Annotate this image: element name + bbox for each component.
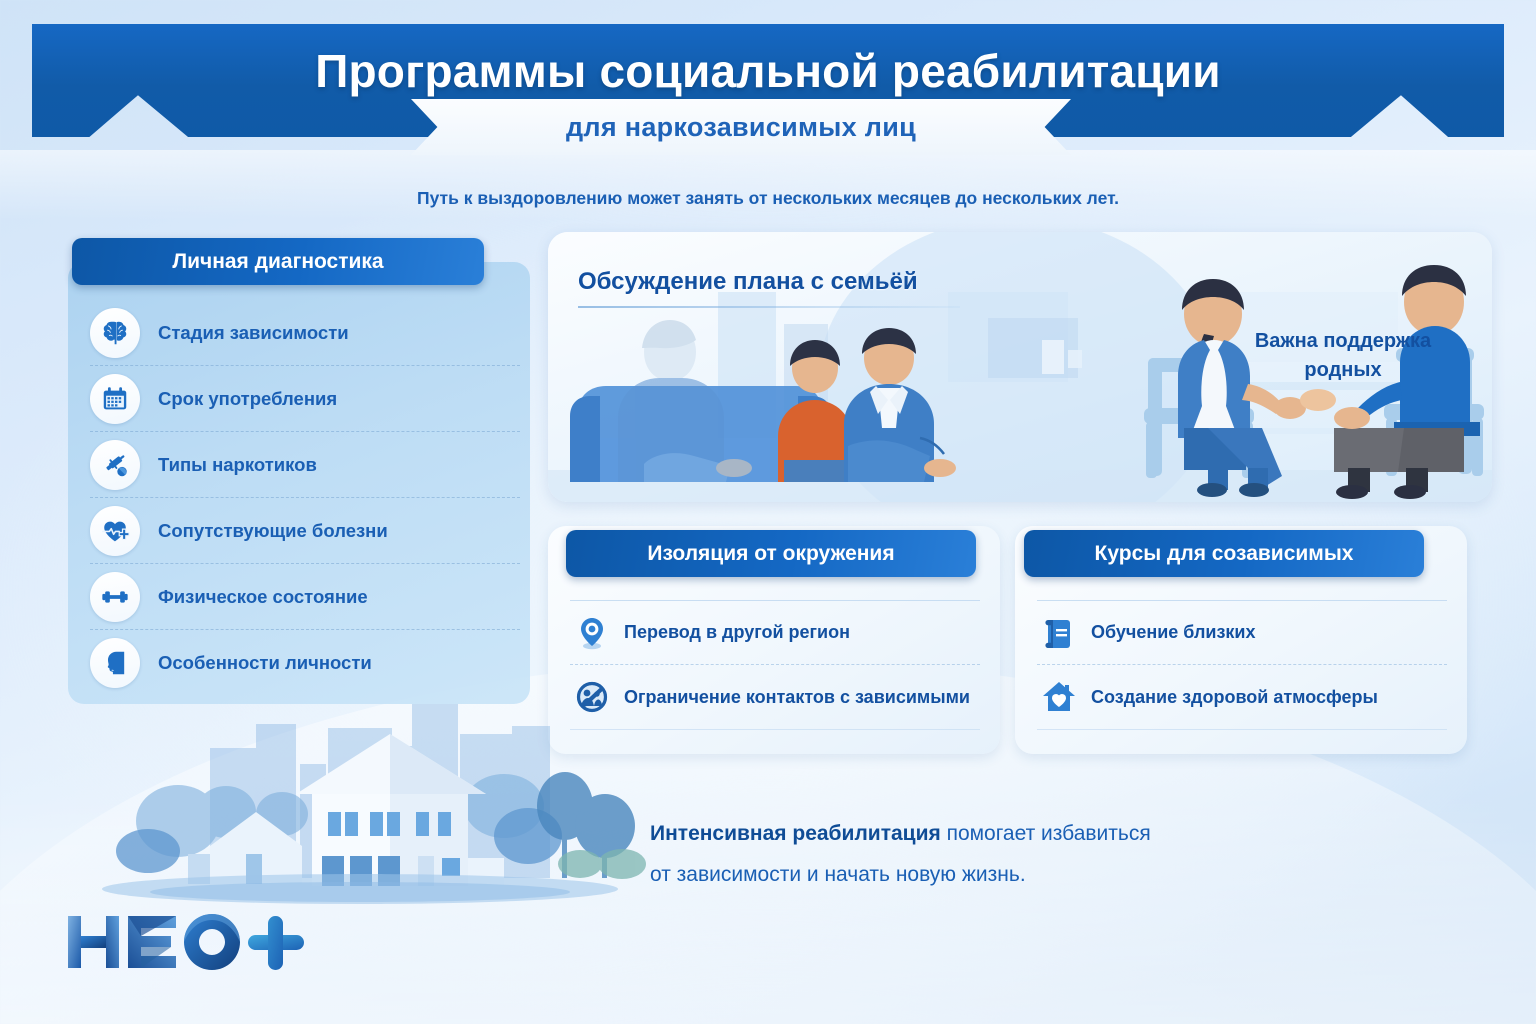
- list-item[interactable]: Физическое состояние: [90, 564, 520, 630]
- list-item-label: Физическое состояние: [158, 586, 368, 608]
- list-item-label: Особенности личности: [158, 652, 372, 674]
- list-item-label: Стадия зависимости: [158, 322, 349, 344]
- home-heart-icon: [1037, 679, 1081, 715]
- list-item[interactable]: Обучение близких: [1037, 600, 1447, 665]
- dumbbell-icon: [90, 572, 140, 622]
- footer-line-2: от зависимости и начать новую жизнь.: [650, 855, 1350, 896]
- list-item[interactable]: Перевод в другой регион: [570, 600, 980, 665]
- list-item-label: Обучение близких: [1091, 622, 1256, 643]
- page-title: Программы социальной реабилитации: [32, 44, 1504, 98]
- isolation-heading-pill: Изоляция от окружения: [566, 530, 976, 577]
- list-item-label: Сопутствующие болезни: [158, 520, 388, 542]
- heart-plus-icon: [90, 506, 140, 556]
- book-icon: [1037, 615, 1081, 651]
- family-discussion-card: Обсуждение плана с семьёй Важна поддержк…: [548, 232, 1492, 502]
- list-item-label: Типы наркотиков: [158, 454, 317, 476]
- list-item-label: Создание здоровой атмосферы: [1091, 687, 1378, 708]
- logo[interactable]: [62, 906, 312, 978]
- footer-highlight: Интенсивная реабилитация: [650, 822, 941, 845]
- list-item[interactable]: Типы наркотиков: [90, 432, 520, 498]
- header-subtitle-ribbon: для наркозависимых лиц: [411, 99, 1071, 155]
- codependent-courses-list: Обучение близких Создание здоровой атмос…: [1037, 600, 1447, 730]
- diagnostics-heading-pill: Личная диагностика: [72, 238, 484, 285]
- card-title: Обсуждение плана с семьёй: [578, 268, 918, 296]
- list-item-label: Срок употребления: [158, 388, 337, 410]
- card-title-underline: [578, 306, 960, 308]
- syringe-pills-icon: [90, 440, 140, 490]
- footer-message: Интенсивная реабилитация помогает избави…: [650, 814, 1350, 896]
- list-item[interactable]: Стадия зависимости: [90, 300, 520, 366]
- diagnostics-heading: Личная диагностика: [172, 250, 383, 274]
- brain-icon: [90, 308, 140, 358]
- poster-root: Программы социальной реабилитации для на…: [0, 0, 1536, 1024]
- page-tagline: Путь к выздоровлению может занять от нес…: [0, 188, 1536, 209]
- head-profile-icon: [90, 638, 140, 688]
- calendar-icon: [90, 374, 140, 424]
- list-item[interactable]: Сопутствующие болезни: [90, 498, 520, 564]
- page-subtitle: для наркозависимых лиц: [566, 112, 916, 143]
- codependent-heading: Курсы для созависимых: [1095, 542, 1354, 566]
- card-note: Важна поддержка родных: [1228, 327, 1458, 385]
- list-item[interactable]: Срок употребления: [90, 366, 520, 432]
- isolation-heading: Изоляция от окружения: [647, 542, 894, 566]
- location-pin-icon: [570, 615, 614, 651]
- house-city-illustration: [60, 686, 660, 916]
- codependent-heading-pill: Курсы для созависимых: [1024, 530, 1424, 577]
- list-item-label: Перевод в другой регион: [624, 622, 850, 643]
- list-item-label: Ограничение контактов с зависимыми: [624, 687, 970, 708]
- list-item[interactable]: Создание здоровой атмосферы: [1037, 665, 1447, 730]
- diagnostics-list: Стадия зависимости: [90, 300, 520, 696]
- footer-rest: помогает избавиться: [941, 822, 1151, 845]
- background-sheen-top: [0, 150, 1536, 220]
